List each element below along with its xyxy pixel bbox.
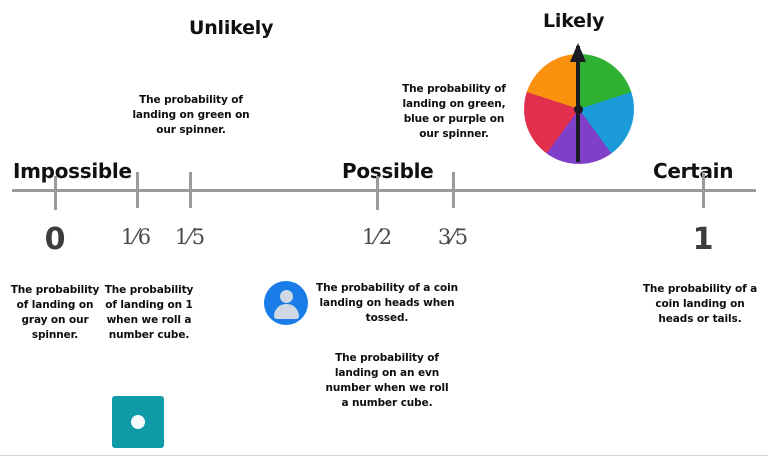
zone-label-unlikely: Unlikely <box>189 17 273 39</box>
zone-label-impossible: Impossible <box>13 159 132 183</box>
spinner-needle-pivot <box>574 105 583 114</box>
probability-number-line-figure: Unlikely Likely The probability of landi… <box>0 0 768 456</box>
fraction-numerator: 1 <box>175 225 188 249</box>
tick-value-0: 0 <box>35 222 75 257</box>
fraction-denominator: 2 <box>379 225 392 249</box>
annotation-coin-heads: The probability of a coin landing on hea… <box>316 281 458 326</box>
number-cube-icon <box>112 396 164 448</box>
axis-tick-1 <box>702 172 705 208</box>
number-line-axis <box>12 189 756 192</box>
spinner-needle <box>576 46 580 162</box>
number-cube-pip <box>131 415 145 429</box>
fraction-numerator: 1 <box>362 225 375 249</box>
axis-tick-one-sixth <box>136 172 139 208</box>
tick-value-three-fifths: 3⁄5 <box>430 225 476 249</box>
zone-label-certain: Certain <box>653 159 733 183</box>
fraction-denominator: 5 <box>455 225 468 249</box>
person-icon-head <box>280 290 293 303</box>
axis-tick-three-fifths <box>452 172 455 208</box>
tick-value-one-fifth: 1⁄5 <box>167 225 213 249</box>
annotation-gray-spinner: The probability of landing on gray on ou… <box>7 283 103 343</box>
annotation-heads-or-tails: The probability of a coin landing on hea… <box>638 282 762 327</box>
axis-tick-one-fifth <box>189 172 192 208</box>
tick-value-1: 1 <box>683 222 723 257</box>
tick-value-one-half: 1⁄2 <box>354 225 400 249</box>
fraction-denominator: 5 <box>192 225 205 249</box>
tick-value-one-sixth: 1⁄6 <box>113 225 159 249</box>
person-icon-body <box>274 304 299 319</box>
fraction-numerator: 1 <box>121 225 134 249</box>
zone-label-likely: Likely <box>543 10 604 32</box>
annotation-even-number: The probability of landing on an evn num… <box>324 351 450 411</box>
spinner-graphic <box>524 54 638 168</box>
spinner-needle-arrow-icon <box>570 43 586 62</box>
axis-tick-one-half <box>376 176 379 210</box>
annotation-roll-one: The probability of landing on 1 when we … <box>101 283 197 343</box>
annotation-green-spinner: The probability of landing on green on o… <box>132 93 250 138</box>
fraction-numerator: 3 <box>438 225 451 249</box>
fraction-denominator: 6 <box>138 225 151 249</box>
person-icon <box>264 281 308 325</box>
annotation-green-blue-purple: The probability of landing on green, blu… <box>396 82 512 142</box>
axis-tick-0 <box>54 176 57 210</box>
zone-label-possible: Possible <box>342 159 433 183</box>
